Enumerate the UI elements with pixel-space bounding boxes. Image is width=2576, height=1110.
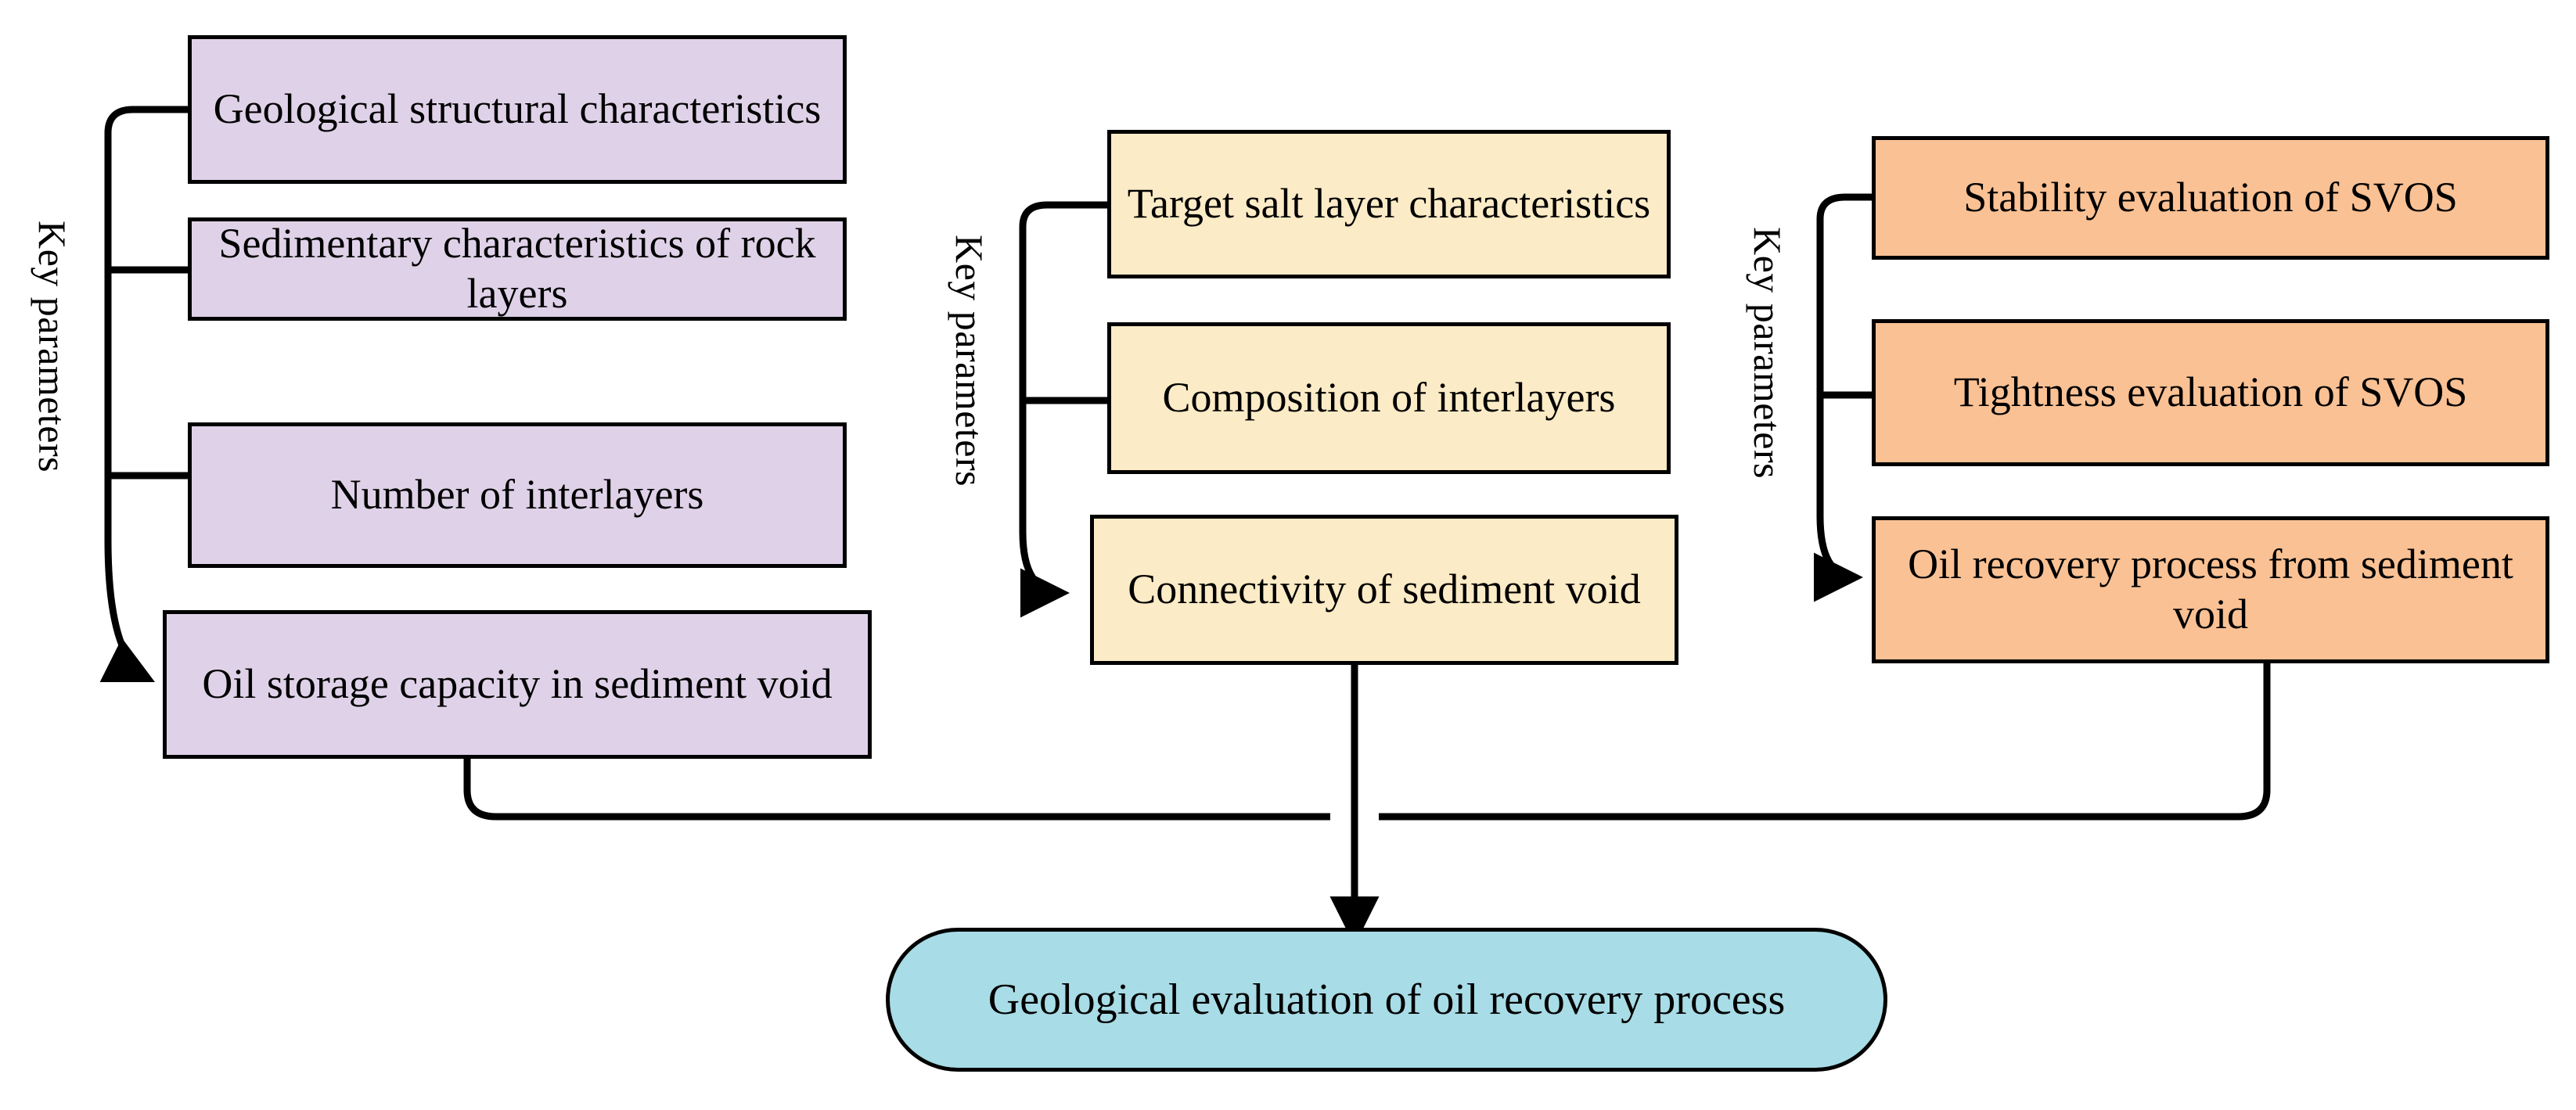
node-composition-of-interlayers[interactable]: Composition of interlayers <box>1107 322 1671 474</box>
node-tightness-evaluation-of-svos[interactable]: Tightness evaluation of SVOS <box>1872 319 2549 466</box>
connector-group-svos <box>1820 197 1872 577</box>
node-geological-structural-characteristics[interactable]: Geological structural characteristics <box>188 35 847 184</box>
node-stability-evaluation-of-svos[interactable]: Stability evaluation of SVOS <box>1872 136 2549 260</box>
node-number-of-interlayers[interactable]: Number of interlayers <box>188 422 847 568</box>
node-oil-storage-capacity-in-sediment-void[interactable]: Oil storage capacity in sediment void <box>163 610 872 759</box>
connector-group-geology <box>108 110 188 679</box>
flowchart-canvas: Key parameters Geological structural cha… <box>0 0 2576 1110</box>
axis-label-key-parameters-salt-layer: Key parameters <box>947 235 992 487</box>
node-sedimentary-characteristics-of-rock-layers[interactable]: Sedimentary characteristics of rock laye… <box>188 217 847 321</box>
axis-label-key-parameters-svos: Key parameters <box>1745 227 1790 479</box>
node-oil-recovery-process-from-sediment-void[interactable]: Oil recovery process from sediment void <box>1872 516 2549 663</box>
axis-label-key-parameters-geology: Key parameters <box>30 221 75 472</box>
node-connectivity-of-sediment-void[interactable]: Connectivity of sediment void <box>1090 515 1678 665</box>
node-geological-evaluation-of-oil-recovery-process[interactable]: Geological evaluation of oil recovery pr… <box>886 928 1887 1072</box>
node-target-salt-layer-characteristics[interactable]: Target salt layer characteristics <box>1107 130 1671 278</box>
